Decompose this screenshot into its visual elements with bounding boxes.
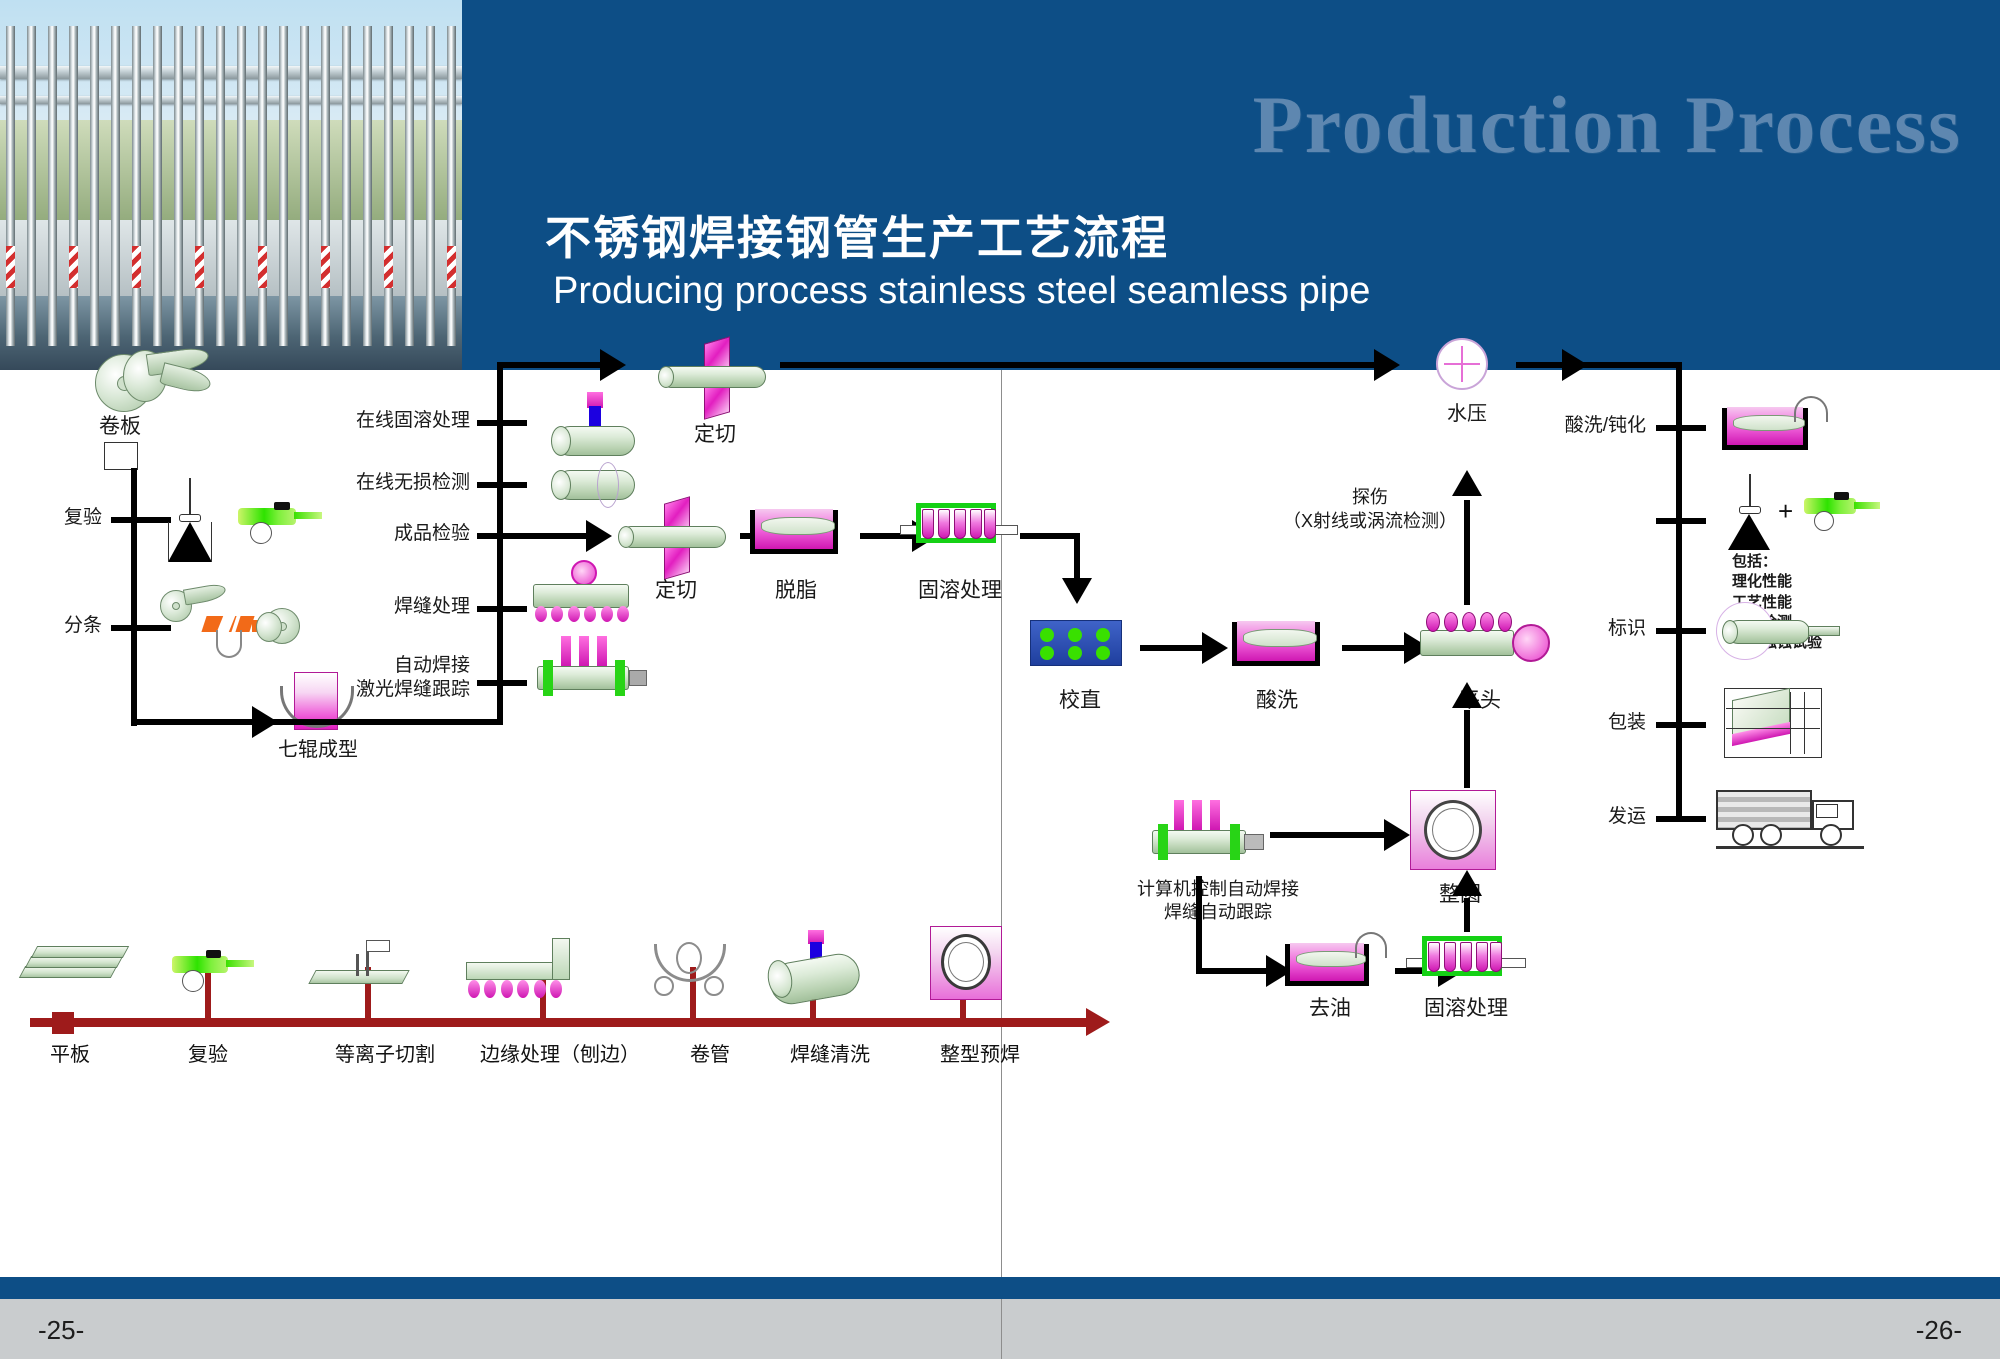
- railing-post: [300, 26, 309, 346]
- step-label-zaixian-gurong: 在线固溶处理: [270, 409, 470, 433]
- timeline-label-fuyan: 复验: [148, 1038, 268, 1067]
- arrow-to-page2: [1562, 349, 1588, 381]
- hazard-stripe: [447, 246, 456, 288]
- header-photo: /*posts generated below*/: [0, 0, 462, 370]
- passivation-tank-icon: [1722, 394, 1842, 462]
- pipe-rolling-icon: [650, 940, 740, 1002]
- spine-to-former: [131, 719, 261, 725]
- line-down-to-jiaozhi: [1074, 533, 1080, 583]
- straightening-icon: [1030, 620, 1130, 680]
- cut-to-length-icon-top: [660, 340, 770, 418]
- railing-post: [447, 26, 456, 346]
- line-gurong2-to-zhengyuan: [1464, 898, 1470, 932]
- step-label-zaixian-wusun: 在线无损检测: [270, 471, 470, 495]
- line-gurong-right: [1020, 533, 1080, 539]
- tick-biaoshi: [1656, 628, 1706, 634]
- railing-post: [195, 26, 204, 346]
- edge-milling-icon: [466, 938, 596, 1002]
- tick-zaixian-gurong: [477, 420, 527, 426]
- step-label-gurong2: 固溶处理: [1396, 996, 1536, 1022]
- page-number-left: -25-: [38, 1315, 84, 1346]
- seam-cleaning-icon: [770, 930, 880, 1002]
- step-label-fentiao: 分条: [0, 614, 102, 638]
- tick-zidong-hanjie: [477, 680, 527, 686]
- hazard-stripe: [6, 246, 15, 288]
- railing-post: [132, 26, 141, 346]
- railing-post: [48, 26, 57, 346]
- hazard-stripe: [321, 246, 330, 288]
- tick-fayun: [1656, 816, 1706, 822]
- railing-post: [426, 26, 435, 346]
- line-down-to-quyou: [1196, 876, 1202, 974]
- timeline-label-pingban: 平板: [10, 1038, 130, 1067]
- shipping-truck-icon: [1716, 790, 1866, 856]
- cut-to-length-icon-mid: [620, 500, 730, 578]
- step-label-qigunchengxing: 七辊成型: [248, 738, 388, 763]
- pickling-tank-icon: [1232, 610, 1342, 680]
- arrow-to-suanxi: [1202, 632, 1228, 664]
- step-label-dingqie-top: 定切: [645, 422, 785, 448]
- packing-icon: [1724, 688, 1844, 764]
- former-to-inline-spine: [261, 719, 503, 725]
- step-label-quyou: 去油: [1275, 996, 1385, 1022]
- line-suanxi-to-pingtou: [1342, 645, 1410, 651]
- spectrometer-gun-icon-2: [172, 948, 272, 1004]
- timeline-label-hanfengqingxi: 焊缝清洗: [760, 1038, 900, 1067]
- step-label-fayun: 发运: [1490, 805, 1646, 829]
- page2-spine: [1676, 362, 1682, 822]
- railing-post: [90, 26, 99, 346]
- pre-weld-shaping-icon: [930, 926, 1020, 1004]
- hydrostatic-test-icon: [1430, 334, 1500, 398]
- step-label-jisuanji-hanjie: 计算机控制自动焊接 焊缝自动跟踪: [1078, 878, 1358, 923]
- coil-connector-box: [104, 442, 138, 470]
- step-label-dingqie-mid: 定切: [608, 578, 744, 604]
- timeline-label-juanguan: 卷管: [650, 1038, 770, 1067]
- footer-bar: [0, 1277, 2000, 1299]
- timeline-axis: [30, 1018, 1090, 1027]
- inline-spine: [497, 362, 503, 720]
- inline-spine-top: [497, 362, 607, 368]
- railing-post: [27, 26, 36, 346]
- railing-post: [216, 26, 225, 346]
- timeline-start-marker: [52, 1012, 74, 1034]
- slide-header: /*posts generated below*/ Production Pro…: [0, 0, 2000, 370]
- arrow-zhengyuan-to-pingtou: [1452, 682, 1482, 708]
- plasma-cutting-icon: [312, 940, 432, 1004]
- tick-baozhuang: [1656, 722, 1706, 728]
- arrow-to-zhengyuan: [1384, 819, 1410, 851]
- line-jiaozhi-to-suanxi: [1140, 645, 1208, 651]
- inline-solution-pipe-icon: [545, 392, 645, 454]
- line-page2-top: [1596, 362, 1682, 368]
- long-arrow-line: [780, 362, 1380, 368]
- flat-plate-icon: [22, 944, 132, 1000]
- line-to-dingqie2: [497, 533, 592, 539]
- line-to-zhengyuan: [1270, 832, 1390, 838]
- railing-post: [69, 26, 78, 346]
- timeline-arrowhead: [1086, 1008, 1110, 1036]
- computer-welding-icon: [1150, 800, 1270, 876]
- coil-icon: [95, 342, 215, 412]
- railing-post: [174, 26, 183, 346]
- arrow-to-dingqie2: [586, 520, 612, 552]
- step-label-baozhuang: 包装: [1490, 711, 1646, 735]
- automatic-welding-icon: [533, 636, 643, 706]
- step-label-jiaozhi: 校直: [1020, 688, 1140, 714]
- tick-suanxi-dunhua: [1656, 425, 1706, 431]
- arrow-down-to-jiaozhi: [1062, 578, 1092, 604]
- step-label-chengpin-jianyan: 成品检验: [270, 522, 470, 546]
- step-label-suanxi-dunhua: 酸洗/钝化: [1470, 414, 1646, 438]
- degreasing-tank-icon: [750, 498, 860, 568]
- railing-post: [363, 26, 372, 346]
- tick-zaixian-wusun: [477, 482, 527, 488]
- hazard-stripe: [69, 246, 78, 288]
- step-label-fuyan: 复验: [0, 506, 102, 530]
- oil-removal-tank-icon: [1285, 932, 1395, 998]
- tick-lihua-test: [1656, 518, 1706, 524]
- arrow-to-dingqie-top: [600, 349, 626, 381]
- footer-strip: -25- -26-: [0, 1299, 2000, 1359]
- hazard-stripe: [132, 246, 141, 288]
- railing-post: [321, 26, 330, 346]
- railing-post: [6, 26, 15, 346]
- hazard-stripe: [258, 246, 267, 288]
- railing-post: [237, 26, 246, 346]
- hazard-stripe: [195, 246, 204, 288]
- step-label-tuozhi: 脱脂: [740, 578, 852, 604]
- slide-subtitle: Producing process stainless steel seamle…: [553, 270, 1370, 313]
- step-label-zidong-hanjie: 自动焊接 激光焊缝跟踪: [250, 654, 470, 702]
- timeline-label-bianyuanchuli: 边缘处理（刨边）: [440, 1038, 680, 1067]
- slide-title-chinese: 不锈钢焊接钢管生产工艺流程: [545, 202, 1169, 268]
- railing-post: [384, 26, 393, 346]
- spine-lower: [131, 625, 137, 725]
- line-zhengyuan-to-pingtou: [1464, 710, 1470, 788]
- line-to-quyou: [1196, 968, 1272, 974]
- inspection-note: 探伤 （X射线或涡流检测）: [1245, 485, 1495, 534]
- timeline-label-zhengxingyuhan: 整型预焊: [910, 1038, 1050, 1067]
- step-label-suanxi: 酸洗: [1222, 688, 1332, 714]
- railing-post: [153, 26, 162, 346]
- arrow-gurong2-to-zhengyuan: [1452, 870, 1482, 896]
- railing-post: [279, 26, 288, 346]
- tick-hanfeng-chuli: [477, 606, 527, 612]
- page-number-right: -26-: [1916, 1315, 1962, 1346]
- solution-furnace-icon-2: [1406, 930, 1530, 1000]
- railing-post: [342, 26, 351, 346]
- step-label-gurong: 固溶处理: [890, 578, 1030, 604]
- lab-test-icon-group: +: [1722, 474, 1902, 548]
- marking-icon: [1716, 602, 1846, 664]
- step-label-biaoshi: 标识: [1490, 617, 1646, 641]
- process-flow-diagram: 卷板 复验 分条: [0, 370, 2000, 1277]
- flask-icon: [160, 478, 220, 568]
- long-arrow-head: [1374, 349, 1400, 381]
- solution-furnace-icon: [900, 495, 1020, 569]
- railing-post: [111, 26, 120, 346]
- hazard-stripe: [384, 246, 393, 288]
- step-label-juanban: 卷板: [60, 414, 180, 440]
- slide-title-english: Production Process: [1253, 78, 1962, 172]
- railing-post: [405, 26, 414, 346]
- rounding-icon: [1410, 790, 1506, 874]
- step-label-hanfeng-chuli: 焊缝处理: [270, 595, 470, 619]
- railing-post: [258, 26, 267, 346]
